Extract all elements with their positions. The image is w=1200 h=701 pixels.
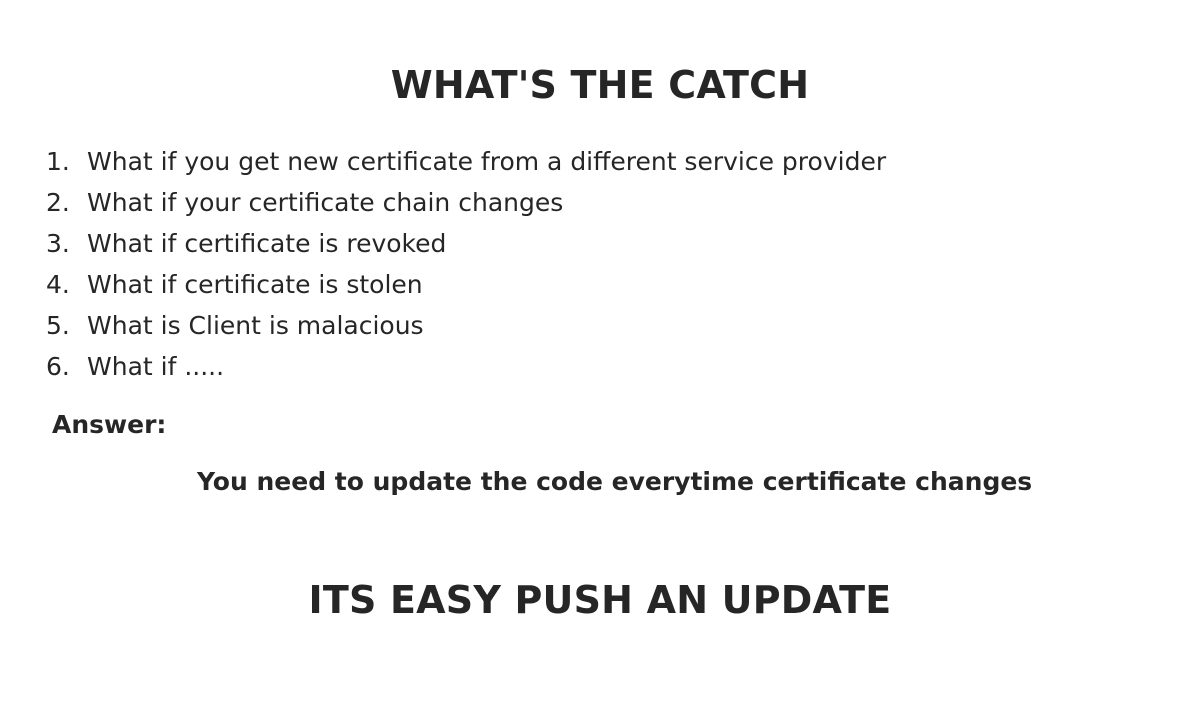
list-item-label: What if ..... bbox=[87, 346, 224, 387]
list-item-number: 3. bbox=[46, 223, 87, 264]
list-item-label: What is Client is malacious bbox=[87, 305, 424, 346]
list-item-number: 1. bbox=[46, 141, 87, 182]
list-item-number: 5. bbox=[46, 305, 87, 346]
list-item: 5. What is Client is malacious bbox=[46, 305, 1046, 346]
list-item: 3. What if certificate is revoked bbox=[46, 223, 1046, 264]
list-item-label: What if certificate is stolen bbox=[87, 264, 423, 305]
footer-heading: ITS EASY PUSH AN UPDATE bbox=[0, 577, 1200, 625]
answer-label: Answer: bbox=[52, 408, 166, 442]
list-item-label: What if you get new certificate from a d… bbox=[87, 141, 886, 182]
list-item-label: What if certificate is revoked bbox=[87, 223, 446, 264]
list-item: 1. What if you get new certificate from … bbox=[46, 141, 1046, 182]
list-item: 6. What if ..... bbox=[46, 346, 1046, 387]
list-item-number: 2. bbox=[46, 182, 87, 223]
answer-text: You need to update the code everytime ce… bbox=[197, 465, 1032, 499]
list-item-number: 6. bbox=[46, 346, 87, 387]
catch-question-list: 1. What if you get new certificate from … bbox=[46, 141, 1046, 387]
slide-canvas: WHAT'S THE CATCH 1. What if you get new … bbox=[0, 0, 1200, 701]
list-item-label: What if your certificate chain changes bbox=[87, 182, 563, 223]
list-item: 4. What if certificate is stolen bbox=[46, 264, 1046, 305]
list-item-number: 4. bbox=[46, 264, 87, 305]
list-item: 2. What if your certificate chain change… bbox=[46, 182, 1046, 223]
page-title: WHAT'S THE CATCH bbox=[0, 62, 1200, 110]
